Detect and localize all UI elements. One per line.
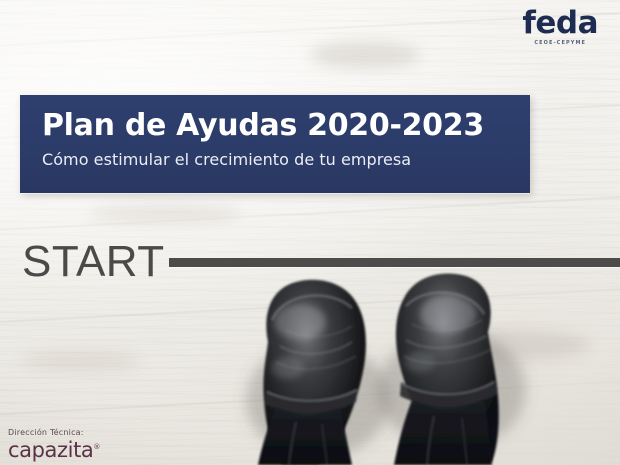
capazita-text: capazita [8,438,93,462]
start-rule [169,258,620,267]
start-row: START [22,236,620,288]
registered-trademark-icon: ® [93,443,100,451]
presentation-slide: feda CEOE-CEPYME Plan de Ayudas 2020-202… [0,0,620,465]
technical-direction-credit: Dirección Técnica: capazita® [8,429,100,461]
feda-logo: feda CEOE-CEPYME [522,8,598,46]
title-banner: Plan de Ayudas 2020-2023 Cómo estimular … [20,95,530,193]
feda-tagline: CEOE-CEPYME [522,41,598,46]
wood-floor-background [0,0,620,465]
capazita-wordmark: capazita® [8,440,100,461]
page-subtitle: Cómo estimular el crecimiento de tu empr… [42,150,530,169]
start-label: START [22,240,165,284]
credit-label: Dirección Técnica: [8,429,100,437]
page-title: Plan de Ayudas 2020-2023 [42,109,530,142]
feda-wordmark: feda [522,8,598,39]
